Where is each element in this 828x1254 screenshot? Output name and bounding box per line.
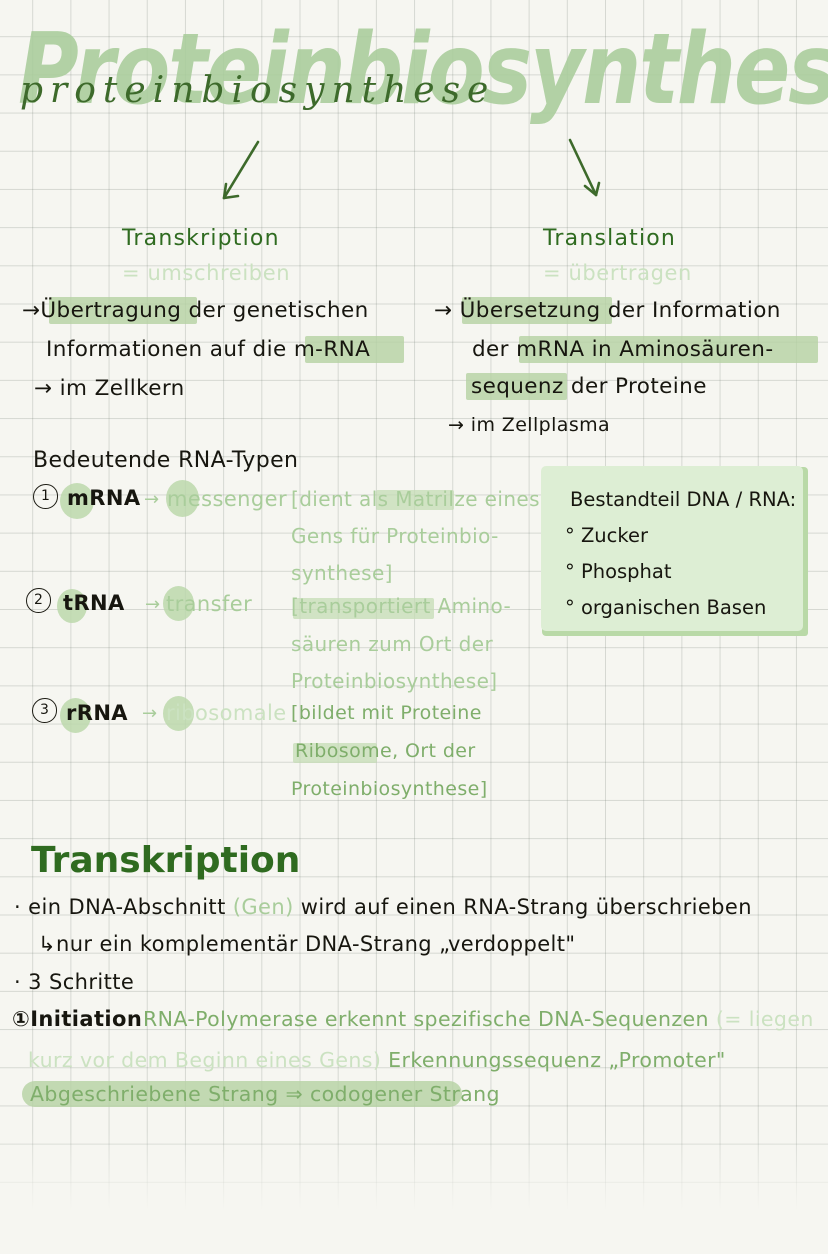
bullet-3-text: 3 Schritte [28, 970, 134, 994]
translation-location: im Zellplasma [464, 414, 610, 436]
bullet-glyph: ° [565, 596, 575, 619]
translation-line-3-rest: der Proteine [564, 374, 707, 399]
info-box-item-2: ° Phosphat [565, 560, 672, 583]
translation-line-2-rest: der [472, 337, 516, 362]
transkription-location: im Zellkern [52, 376, 184, 401]
translation-line-1-rest: der Information [601, 298, 781, 323]
rna-desc-rrna-line-1: [bildet mit Proteine [291, 702, 482, 724]
transkription-line-3: → im Zellkern [34, 376, 185, 401]
bullet-1-gen: (Gen) [233, 895, 294, 919]
info-box-heading: Bestandteil DNA / RNA: [570, 488, 796, 511]
arrow-glyph: → [434, 298, 452, 323]
rna-desc-mrna-line-2: Gens für Proteinbio- [291, 524, 499, 548]
page-title-script-overlay: proteinbiosynthese [20, 70, 495, 111]
transkription-line-2-hl: m-RNA [294, 337, 370, 362]
step-1-line-2-part-2: Erkennungssequenz „Promoter" [381, 1048, 726, 1072]
translation-line-1: → Übersetzung der Information [434, 298, 781, 323]
step-1-marker-label: ①Initiation [12, 1007, 142, 1031]
step-1-label: Initiation [30, 1007, 142, 1031]
branch-subheading-translation: = übertragen [543, 261, 692, 285]
step-1-line-1-part-1: RNA-Polymerase erkennt spezifische DNA-S… [143, 1007, 716, 1031]
transkription-line-1-hl: Übertragung [40, 298, 181, 323]
step-1-number-glyph: ① [12, 1007, 30, 1031]
info-box-item-3-label: organischen Basen [581, 596, 766, 619]
step-1-line-2: kurz vor dem Beginn eines Gens) Erkennun… [28, 1048, 726, 1072]
info-box-item-1-label: Zucker [581, 524, 648, 547]
notebook-page: Proteinbiosynthese proteinbiosynthese Tr… [0, 0, 828, 1254]
rna-desc-trna-line-2: säuren zum Ort der [291, 632, 493, 656]
rna-expansion-rrna: ribosomale [166, 701, 287, 725]
bullet-1-part-3: wird auf einen RNA-Strang überschrieben [294, 895, 752, 919]
arrow-glyph: → [448, 414, 464, 436]
bullet-marker: · [14, 970, 21, 994]
transkription-line-1-rest: der genetischen [181, 298, 368, 323]
rna-expansion-trna: transfer [166, 592, 252, 616]
arrow-glyph: → [34, 376, 52, 401]
transkription-line-1: →Übertragung der genetischen [22, 298, 369, 323]
rna-arrow-mrna: → [144, 489, 159, 510]
list-number-1: 1 [33, 484, 58, 509]
bullet-glyph: ° [565, 560, 575, 583]
transkription-bullet-3: · 3 Schritte [14, 970, 134, 994]
grid-fade-bottom [0, 1130, 828, 1254]
section-heading-transkription: Transkription [31, 840, 300, 881]
bullet-marker: ↳ [38, 932, 56, 956]
step-1-line-2-part-1: kurz vor dem Beginn eines Gens) [28, 1048, 381, 1072]
rna-desc-rrna-line-3: Proteinbiosynthese] [291, 778, 488, 800]
step-1-line-1: RNA-Polymerase erkennt spezifische DNA-S… [143, 1007, 814, 1031]
step-1-highlighted-line: Abgeschriebene Strang ⇒ codogener Strang [30, 1082, 500, 1106]
rna-section-heading: Bedeutende RNA-Typen [33, 448, 298, 473]
translation-line-3-hl: sequenz [471, 374, 564, 399]
transkription-bullet-2: ↳nur ein komplementär DNA-Strang „verdop… [38, 932, 575, 956]
branch-heading-translation: Translation [543, 226, 676, 251]
list-number-2: 2 [26, 588, 51, 613]
bullet-glyph: ° [565, 524, 575, 547]
rna-name-mrna: mRNA [67, 486, 140, 510]
rna-expansion-mrna: messenger [167, 487, 287, 511]
info-box-dna-rna-components: Bestandteil DNA / RNA: ° Zucker ° Phosph… [541, 466, 803, 631]
bullet-1-part-1: ein DNA-Abschnitt [28, 895, 233, 919]
rna-desc-mrna-line-3: synthese] [291, 561, 393, 585]
rna-desc-rrna-line-2: Ribosome, Ort der [295, 740, 476, 762]
bullet-marker: · [14, 895, 21, 919]
branch-heading-transkription: Transkription [122, 226, 280, 251]
translation-line-4: → im Zellplasma [448, 414, 610, 436]
rna-name-rrna: rRNA [66, 701, 128, 725]
rna-desc-trna-line-3: Proteinbiosynthese] [291, 669, 497, 693]
transkription-line-2-rest: Informationen auf die [46, 337, 294, 362]
rna-arrow-rrna: → [142, 703, 157, 724]
step-1-line-1-part-2: (= liegen [716, 1007, 814, 1031]
transkription-line-2: Informationen auf die m-RNA [46, 337, 370, 362]
arrow-glyph: → [22, 298, 40, 323]
info-box-item-2-label: Phosphat [581, 560, 672, 583]
bullet-2-text: nur ein komplementär DNA-Strang „verdopp… [56, 932, 575, 956]
translation-line-3: sequenz der Proteine [471, 374, 707, 399]
transkription-bullet-1: · ein DNA-Abschnitt (Gen) wird auf einen… [14, 895, 752, 919]
rna-desc-mrna-line-1: [dient als Matrilze eines [291, 487, 540, 511]
info-box-item-1: ° Zucker [565, 524, 648, 547]
rna-arrow-trna: → [145, 594, 160, 615]
rna-name-trna: tRNA [63, 591, 125, 615]
info-box-item-3: ° organischen Basen [565, 596, 766, 619]
branch-subheading-transkription: = umschreiben [122, 261, 290, 285]
translation-line-2-hl: mRNA in Aminosäuren- [516, 337, 773, 362]
list-number-3: 3 [32, 698, 57, 723]
translation-line-1-hl: Übersetzung [460, 298, 601, 323]
rna-desc-trna-line-1: [transportiert Amino- [291, 594, 511, 618]
translation-line-2: der mRNA in Aminosäuren- [472, 337, 774, 362]
